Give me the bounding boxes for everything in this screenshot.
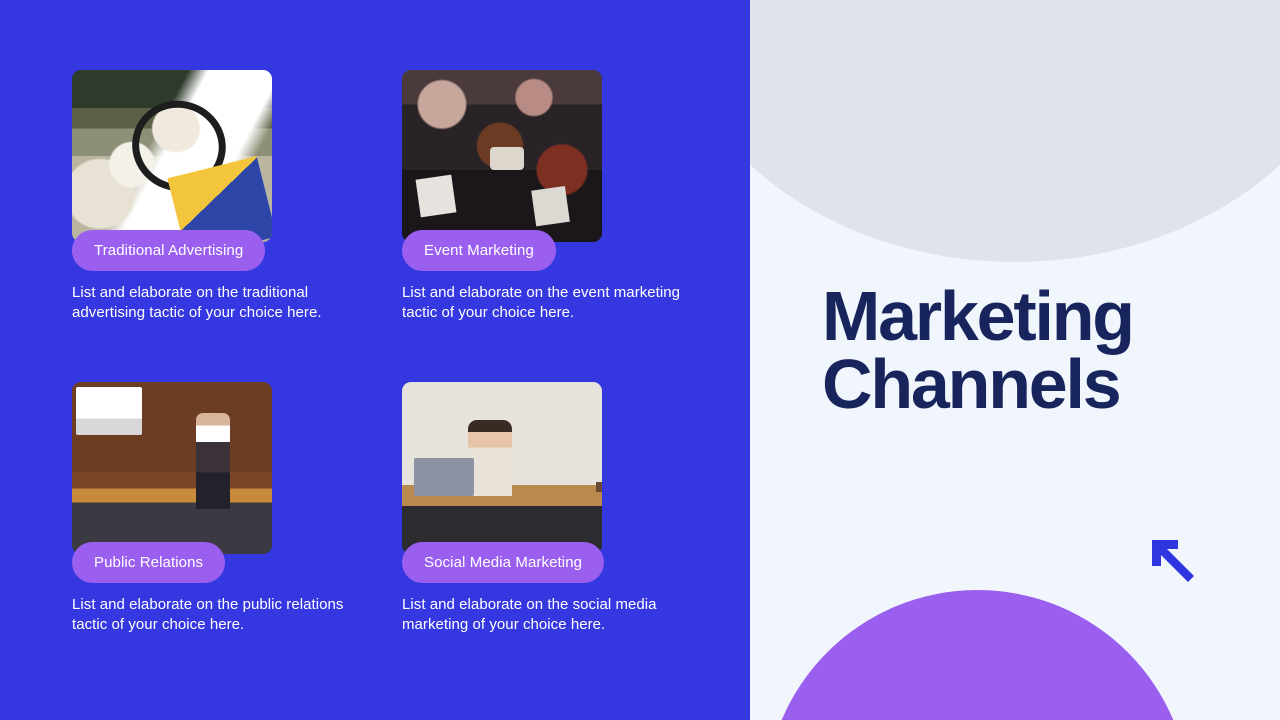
cards-grid: Traditional Advertising List and elabora… (0, 0, 750, 720)
traditional-drummers-photo (72, 70, 272, 242)
card-thumbnail (402, 70, 602, 242)
card-label-pill: Event Marketing (402, 230, 556, 271)
conference-speaker-photo (72, 382, 272, 554)
office-laptop-photo (402, 382, 602, 554)
card-social-media-marketing[interactable]: Social Media Marketing List and elaborat… (402, 382, 732, 635)
slide-root: Traditional Advertising List and elabora… (0, 0, 1280, 720)
card-label-pill: Public Relations (72, 542, 225, 583)
page-title: Marketing Channels (822, 282, 1242, 418)
card-description: List and elaborate on the event marketin… (402, 283, 692, 323)
card-label-pill: Traditional Advertising (72, 230, 265, 271)
arrow-up-left-icon (1148, 536, 1200, 588)
title-line-1: Marketing (822, 277, 1133, 355)
card-thumbnail (72, 70, 272, 242)
purple-circle-decoration (765, 590, 1190, 720)
card-thumbnail (72, 382, 272, 554)
grey-circle-decoration (750, 0, 1280, 262)
card-thumbnail (402, 382, 602, 554)
card-label-pill: Social Media Marketing (402, 542, 604, 583)
event-crowd-photo (402, 70, 602, 242)
card-event-marketing[interactable]: Event Marketing List and elaborate on th… (402, 70, 732, 323)
card-description: List and elaborate on the traditional ad… (72, 283, 362, 323)
title-line-2: Channels (822, 350, 1242, 418)
card-description: List and elaborate on the social media m… (402, 595, 692, 635)
card-public-relations[interactable]: Public Relations List and elaborate on t… (72, 382, 402, 635)
card-traditional-advertising[interactable]: Traditional Advertising List and elabora… (72, 70, 402, 323)
card-description: List and elaborate on the public relatio… (72, 595, 362, 635)
